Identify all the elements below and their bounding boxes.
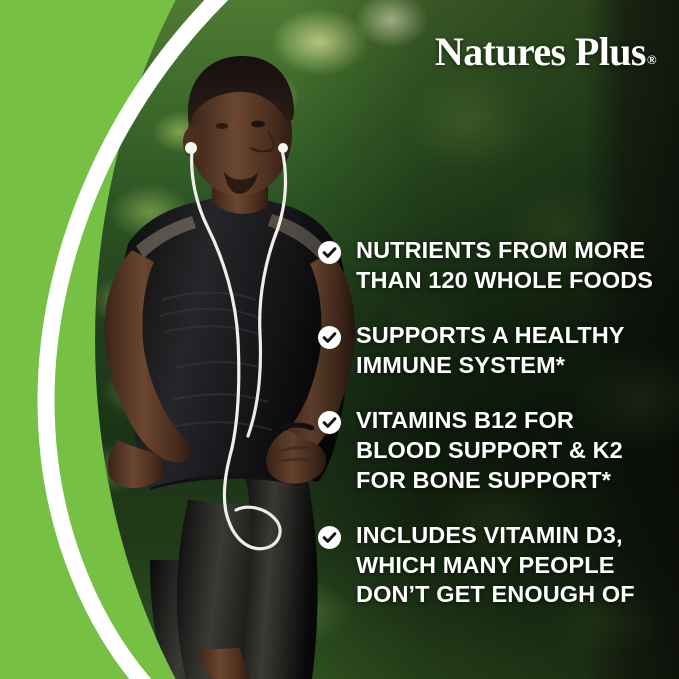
registered-trademark-icon: ® <box>647 52 656 67</box>
check-circle-icon <box>318 241 341 264</box>
benefit-item: INCLUDES VITAMIN D3, WHICH MANY PEOPLE D… <box>318 521 670 610</box>
brand-logo-text: Natures Plus <box>435 29 646 74</box>
benefit-item: SUPPORTS A HEALTHY IMMUNE SYSTEM* <box>318 321 670 380</box>
benefit-item: VITAMINS B12 FOR BLOOD SUPPORT & K2 FOR … <box>318 406 670 495</box>
check-circle-icon <box>318 526 341 549</box>
brand-logo: Natures Plus® <box>435 32 655 72</box>
benefit-item: NUTRIENTS FROM MORE THAN 120 WHOLE FOODS <box>318 236 670 295</box>
check-circle-icon <box>318 326 341 349</box>
benefit-text: NUTRIENTS FROM MORE THAN 120 WHOLE FOODS <box>356 236 653 295</box>
benefit-text: SUPPORTS A HEALTHY IMMUNE SYSTEM* <box>356 321 625 380</box>
benefit-text: INCLUDES VITAMIN D3, WHICH MANY PEOPLE D… <box>356 521 635 610</box>
check-circle-icon <box>318 411 341 434</box>
benefit-text: VITAMINS B12 FOR BLOOD SUPPORT & K2 FOR … <box>356 406 623 495</box>
benefits-list: NUTRIENTS FROM MORE THAN 120 WHOLE FOODS… <box>318 236 670 610</box>
product-benefits-banner: Natures Plus® NUTRIENTS FROM MORE THAN 1… <box>0 0 679 679</box>
